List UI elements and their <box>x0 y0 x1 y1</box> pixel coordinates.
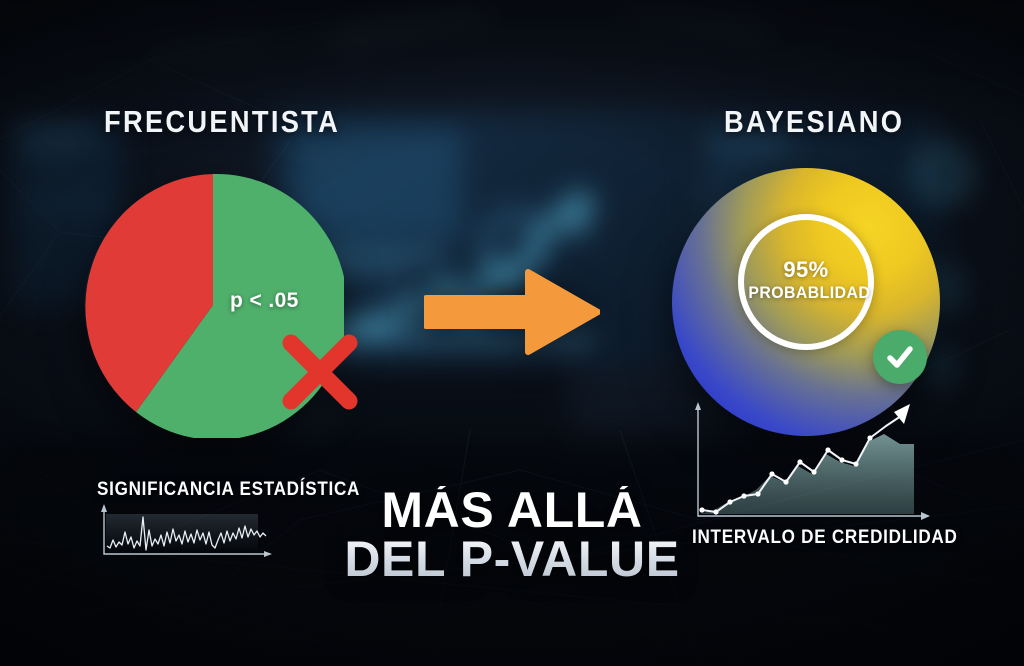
x-mark-icon <box>276 328 364 416</box>
ring-label: PROBABLIDAD <box>748 283 863 302</box>
pie-value-label: p < .05 <box>230 289 299 313</box>
ring-text-group: 95% PROBABLIDAD <box>744 258 868 302</box>
ring-percent: 95% <box>744 258 868 283</box>
main-title: MÁS ALLÁ DEL P-VALUE <box>0 486 1024 584</box>
main-title-line1: MÁS ALLÁ <box>0 486 1024 535</box>
frequentist-heading: FRECUENTISTA <box>104 104 340 140</box>
bayesian-probability-orb: 95% PROBABLIDAD <box>672 168 940 436</box>
right-arrow-icon <box>424 266 600 358</box>
probability-ring: 95% PROBABLIDAD <box>738 214 874 350</box>
bayesian-heading: BAYESIANO <box>724 104 904 140</box>
trend-arrow-head <box>894 404 910 424</box>
main-title-line2: DEL P-VALUE <box>0 535 1024 584</box>
check-mark-icon <box>873 330 927 384</box>
frequentist-pie-chart: p < .05 <box>82 172 344 438</box>
check-glyph <box>884 341 916 373</box>
